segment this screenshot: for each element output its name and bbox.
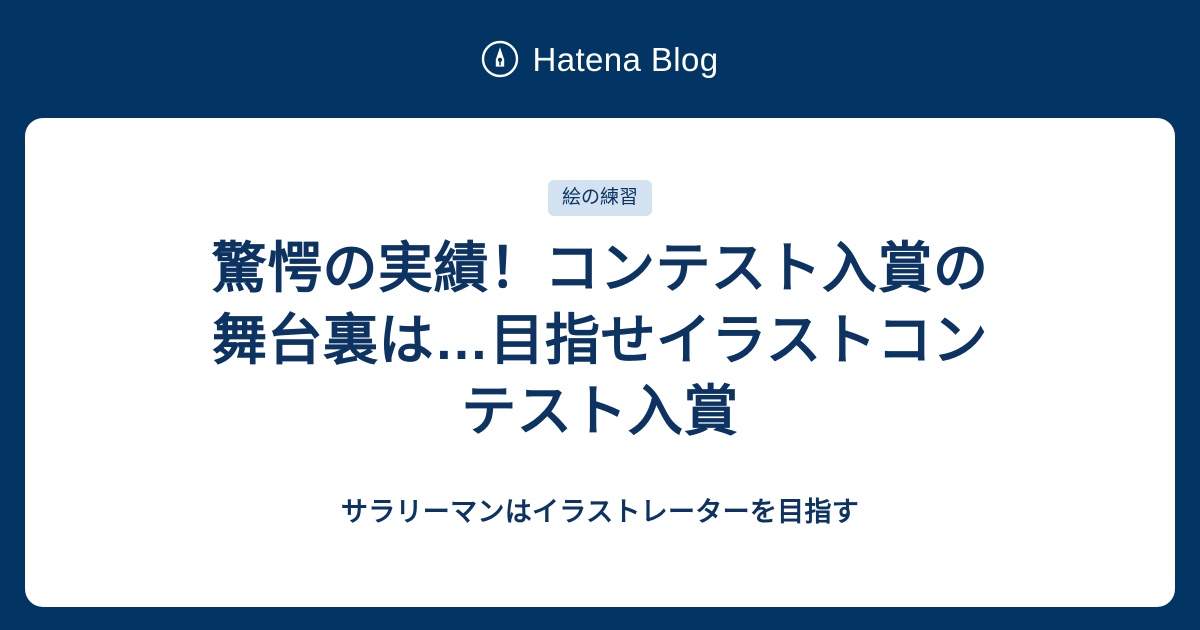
blog-name[interactable]: サラリーマンはイラストレーターを目指す (341, 496, 859, 528)
entry-card: 絵の練習 驚愕の実績！コンテスト入賞の舞台裏は…目指せイラストコンテスト入賞 サ… (25, 118, 1175, 607)
service-name-label: Hatena Blog (532, 43, 718, 76)
pen-nib-in-circle-icon (481, 40, 519, 78)
entry-title[interactable]: 驚愕の実績！コンテスト入賞の舞台裏は…目指せイラストコンテスト入賞 (185, 233, 1015, 448)
hatena-blog-brand-header: Hatena Blog (0, 0, 1200, 118)
category-badge[interactable]: 絵の練習 (548, 180, 652, 216)
